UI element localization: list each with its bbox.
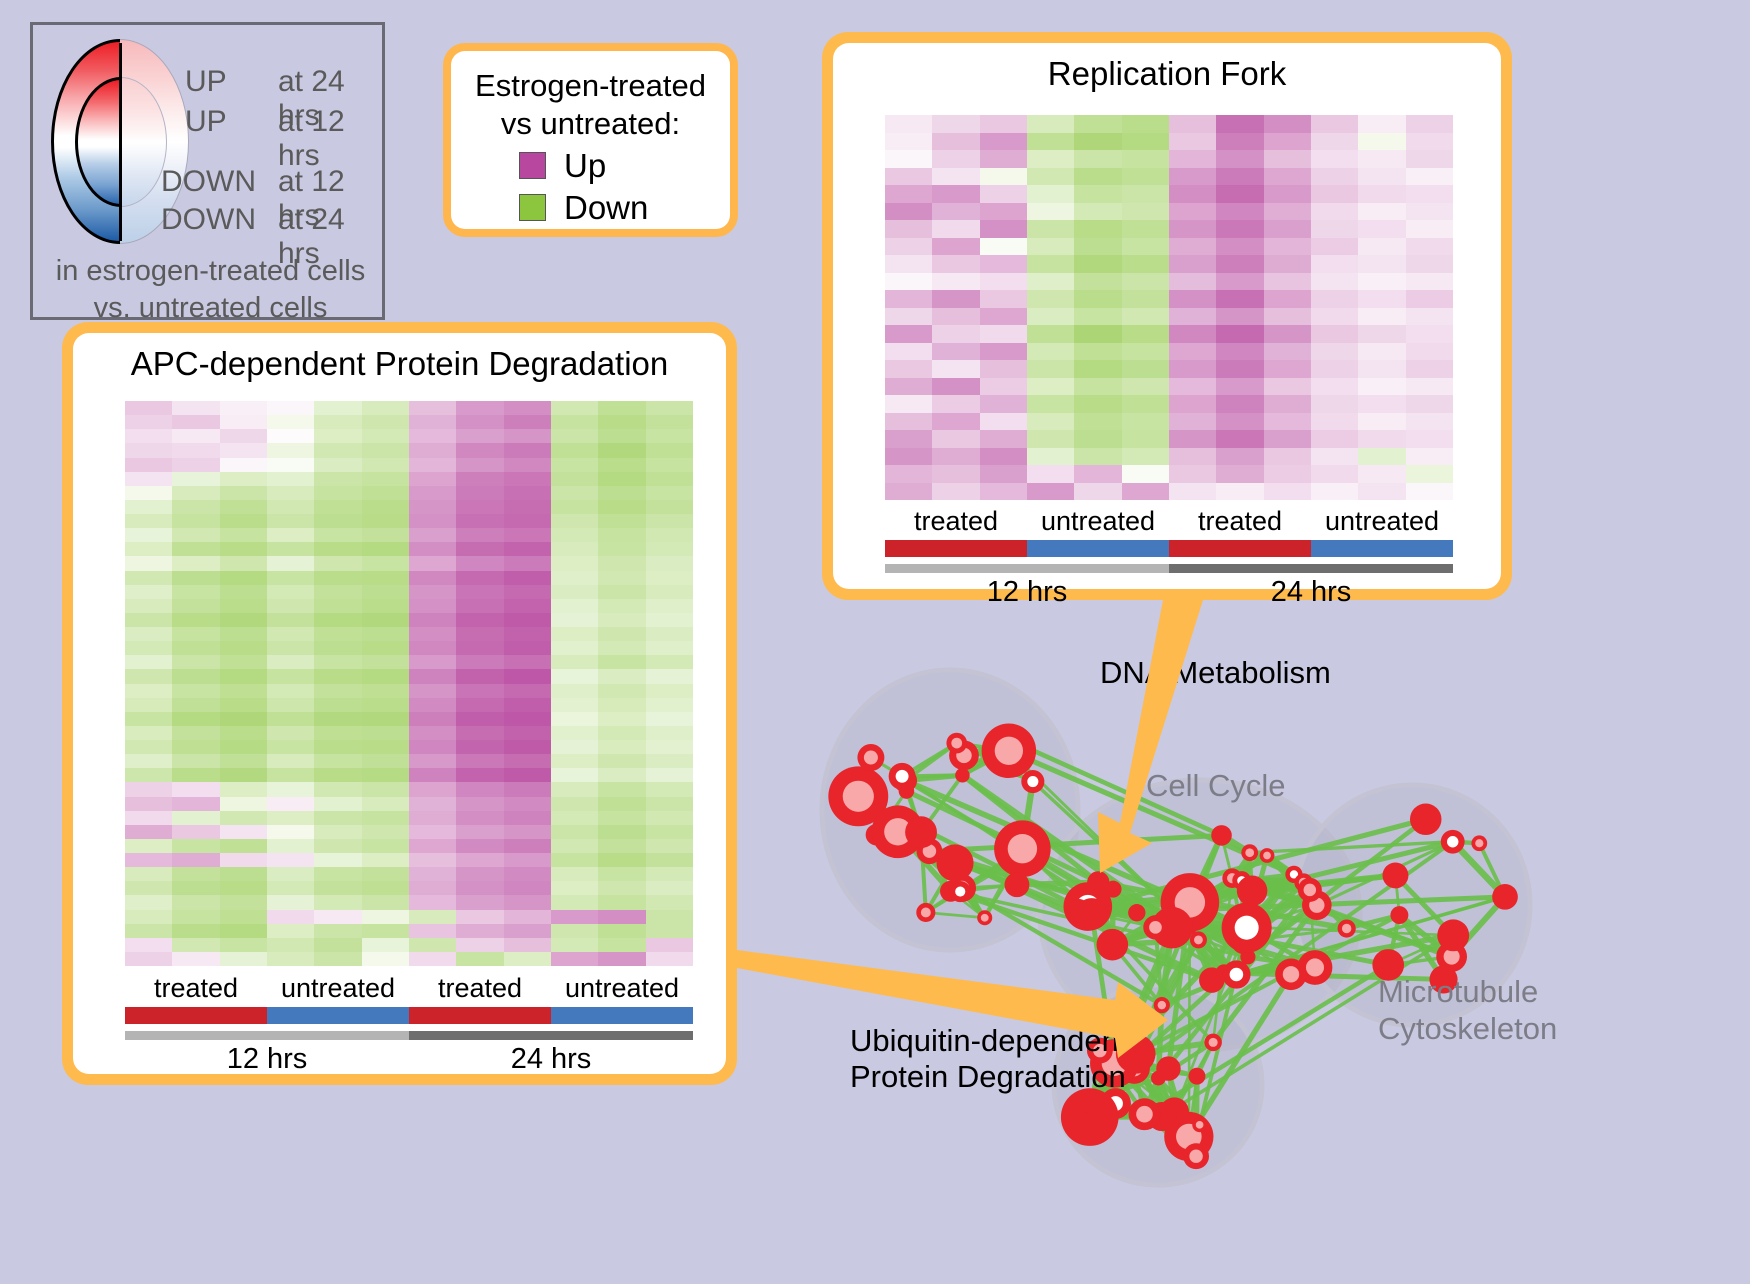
heatmap-cell bbox=[125, 782, 172, 796]
heatmap-cell bbox=[646, 910, 693, 924]
heatmap-cell bbox=[1169, 238, 1216, 256]
heatmap-cell bbox=[1074, 465, 1121, 483]
heatmap-cell bbox=[646, 952, 693, 966]
heatmap-cell bbox=[551, 867, 598, 881]
heatmap-cell bbox=[456, 542, 503, 556]
heatmap-cell bbox=[267, 627, 314, 641]
heatmap-column bbox=[551, 401, 598, 966]
heatmap-cell bbox=[1311, 273, 1358, 291]
heatmap-cell bbox=[220, 797, 267, 811]
heatmap-cell bbox=[932, 290, 979, 308]
legend-direction-3: DOWN bbox=[161, 203, 256, 237]
network-node[interactable] bbox=[1128, 904, 1145, 921]
heatmap-cell bbox=[409, 684, 456, 698]
heatmap-cell bbox=[1406, 360, 1453, 378]
heatmap-cell bbox=[1406, 133, 1453, 151]
heatmap-cell bbox=[504, 910, 551, 924]
heatmap-cell bbox=[551, 542, 598, 556]
heatmap-cell bbox=[409, 415, 456, 429]
heatmap-cell bbox=[125, 641, 172, 655]
heatmap-cell bbox=[551, 443, 598, 457]
network-node[interactable] bbox=[1129, 1098, 1161, 1130]
heatmap-column bbox=[267, 401, 314, 966]
heatmap-cell bbox=[504, 669, 551, 683]
network-node[interactable] bbox=[905, 816, 937, 848]
heatmap-cell bbox=[125, 514, 172, 528]
heatmap-cell bbox=[362, 881, 409, 895]
heatmap-cell bbox=[1216, 150, 1263, 168]
heatmap-cell bbox=[220, 613, 267, 627]
network-node[interactable] bbox=[1067, 899, 1091, 923]
network-node[interactable] bbox=[1492, 884, 1518, 910]
axis-treatment-bars bbox=[125, 1007, 693, 1024]
heatmap-cell bbox=[172, 853, 219, 867]
heatmap-cell bbox=[314, 867, 361, 881]
heatmap-cell bbox=[314, 698, 361, 712]
heatmap-cell bbox=[1122, 115, 1169, 133]
heatmap-cell bbox=[504, 401, 551, 415]
heatmap-cell bbox=[1027, 168, 1074, 186]
legend-time-1: at 12 hrs bbox=[278, 105, 382, 173]
axis-treatment-bar bbox=[1311, 540, 1453, 557]
network-node[interactable] bbox=[1237, 876, 1268, 907]
heatmap-cell bbox=[598, 782, 645, 796]
axis-time-label: 24 hrs bbox=[409, 1043, 693, 1076]
heatmap-cell bbox=[1027, 325, 1074, 343]
heatmap-cell bbox=[409, 782, 456, 796]
axis-treatment-bar bbox=[125, 1007, 267, 1024]
cluster-label-dna-metabolism: DNA Metabolism bbox=[1100, 655, 1331, 691]
network-node[interactable] bbox=[1143, 915, 1167, 939]
heatmap-cell bbox=[646, 486, 693, 500]
heatmap-cell bbox=[456, 684, 503, 698]
axis-group-label: treated bbox=[409, 973, 551, 1004]
heatmap-cell bbox=[1169, 465, 1216, 483]
heatmap-cell bbox=[220, 952, 267, 966]
heatmap-cell bbox=[409, 938, 456, 952]
heatmap-cell bbox=[1216, 115, 1263, 133]
heatmap-cell bbox=[504, 839, 551, 853]
heatmap-cell bbox=[1169, 430, 1216, 448]
heatmap-cell bbox=[1216, 255, 1263, 273]
heatmap-cell bbox=[1264, 273, 1311, 291]
heatmap-apc bbox=[125, 401, 693, 966]
heatmap-cell bbox=[125, 684, 172, 698]
network-node[interactable] bbox=[994, 820, 1051, 877]
heatmap-cell bbox=[267, 443, 314, 457]
heatmap-cell bbox=[456, 881, 503, 895]
heatmap-cell bbox=[409, 401, 456, 415]
axis-time-label: 12 hrs bbox=[125, 1043, 409, 1076]
heatmap-cell bbox=[646, 740, 693, 754]
heatmap-cell bbox=[314, 938, 361, 952]
heatmap-cell bbox=[362, 669, 409, 683]
heatmap-cell bbox=[646, 853, 693, 867]
heatmap-cell bbox=[1311, 203, 1358, 221]
heatmap-cell bbox=[885, 273, 932, 291]
heatmap-cell bbox=[267, 726, 314, 740]
axis-treatment-bar bbox=[551, 1007, 693, 1024]
heatmap-cell bbox=[314, 825, 361, 839]
heatmap-cell bbox=[932, 483, 979, 501]
network-node[interactable] bbox=[1437, 919, 1469, 951]
heatmap-cell bbox=[267, 910, 314, 924]
heatmap-cell bbox=[504, 486, 551, 500]
heatmap-cell bbox=[1406, 273, 1453, 291]
heatmap-cell bbox=[1358, 465, 1405, 483]
heatmap-cell bbox=[409, 839, 456, 853]
heatmap-cell bbox=[598, 839, 645, 853]
heatmap-cell bbox=[409, 472, 456, 486]
network-node[interactable] bbox=[1382, 862, 1408, 888]
heatmap-cell bbox=[362, 415, 409, 429]
heatmap-cell bbox=[1169, 343, 1216, 361]
heatmap-cell bbox=[314, 754, 361, 768]
heatmap-cell bbox=[1311, 378, 1358, 396]
network-node[interactable] bbox=[1338, 919, 1356, 937]
heatmap-cell bbox=[980, 273, 1027, 291]
axis-time-label: 24 hrs bbox=[1169, 576, 1453, 609]
heatmap-cell bbox=[1027, 220, 1074, 238]
heatmap-cell bbox=[598, 938, 645, 952]
heatmap-cell bbox=[314, 599, 361, 613]
heatmap-cell bbox=[646, 571, 693, 585]
heatmap-cell bbox=[1074, 395, 1121, 413]
heatmap-column bbox=[598, 401, 645, 966]
heatmap-cell bbox=[504, 429, 551, 443]
heatmap-cell bbox=[456, 443, 503, 457]
heatmap-cell bbox=[220, 585, 267, 599]
heatmap-cell bbox=[1264, 168, 1311, 186]
heatmap-cell bbox=[409, 669, 456, 683]
heatmap-cell bbox=[314, 514, 361, 528]
heatmap-cell bbox=[885, 343, 932, 361]
up-label: Up bbox=[564, 147, 606, 185]
network-node[interactable] bbox=[1199, 967, 1224, 992]
heatmap-cell bbox=[980, 465, 1027, 483]
heatmap-cell bbox=[125, 768, 172, 782]
heatmap-cell bbox=[646, 458, 693, 472]
heatmap-cell bbox=[504, 895, 551, 909]
heatmap-cell bbox=[551, 585, 598, 599]
axis-time-bar bbox=[409, 1031, 693, 1040]
heatmap-cell bbox=[1358, 220, 1405, 238]
heatmap-cell bbox=[172, 627, 219, 641]
heatmap-cell bbox=[125, 415, 172, 429]
heatmap-cell bbox=[598, 740, 645, 754]
heatmap-cell bbox=[1358, 255, 1405, 273]
heatmap-cell bbox=[598, 585, 645, 599]
heatmap-cell bbox=[646, 754, 693, 768]
heatmap-cell bbox=[314, 910, 361, 924]
network-node[interactable] bbox=[946, 733, 967, 754]
heatmap-cell bbox=[1264, 430, 1311, 448]
heatmap-cell bbox=[125, 938, 172, 952]
heatmap-cell bbox=[456, 458, 503, 472]
network-node[interactable] bbox=[1188, 1068, 1205, 1085]
heatmap-cell bbox=[646, 881, 693, 895]
heatmap-cell bbox=[1122, 308, 1169, 326]
network-node[interactable] bbox=[1183, 1143, 1209, 1169]
heatmap-cell bbox=[598, 641, 645, 655]
heatmap-cell bbox=[1358, 308, 1405, 326]
heatmap-cell bbox=[362, 556, 409, 570]
heatmap-cell bbox=[314, 486, 361, 500]
heatmap-cell bbox=[646, 443, 693, 457]
heatmap-cell bbox=[598, 924, 645, 938]
heatmap-cell bbox=[1169, 448, 1216, 466]
heatmap-cell bbox=[646, 669, 693, 683]
heatmap-cell bbox=[456, 429, 503, 443]
heatmap-cell bbox=[362, 952, 409, 966]
heatmap-cell bbox=[172, 726, 219, 740]
heatmap-cell bbox=[362, 458, 409, 472]
network-node[interactable] bbox=[1410, 803, 1442, 835]
heatmap-cell bbox=[409, 429, 456, 443]
heatmap-cell bbox=[504, 811, 551, 825]
heatmap-cell bbox=[314, 768, 361, 782]
heatmap-cell bbox=[980, 290, 1027, 308]
heatmap-cell bbox=[1074, 220, 1121, 238]
heatmap-cell bbox=[551, 500, 598, 514]
heatmap-cell bbox=[1122, 185, 1169, 203]
heatmap-cell bbox=[456, 571, 503, 585]
heatmap-cell bbox=[220, 726, 267, 740]
heatmap-cell bbox=[409, 881, 456, 895]
heatmap-cell bbox=[980, 220, 1027, 238]
heatmap-cell bbox=[598, 514, 645, 528]
network-node[interactable] bbox=[982, 724, 1036, 778]
heatmap-cell bbox=[172, 698, 219, 712]
axis-treatment-bars bbox=[885, 540, 1453, 557]
heatmap-cell bbox=[456, 599, 503, 613]
heatmap-cell bbox=[362, 627, 409, 641]
heatmap-cell bbox=[1311, 483, 1358, 501]
heatmap-cell bbox=[598, 571, 645, 585]
heatmap-cell bbox=[172, 415, 219, 429]
heatmap-column bbox=[646, 401, 693, 966]
heatmap-cell bbox=[409, 867, 456, 881]
heatmap-cell bbox=[172, 895, 219, 909]
heatmap-cell bbox=[172, 797, 219, 811]
heatmap-cell bbox=[172, 938, 219, 952]
network-node[interactable] bbox=[857, 744, 884, 771]
heatmap-cell bbox=[125, 556, 172, 570]
network-node[interactable] bbox=[1021, 770, 1044, 793]
network-node[interactable] bbox=[977, 910, 992, 925]
heatmap-cell bbox=[1311, 343, 1358, 361]
heatmap-cell bbox=[456, 627, 503, 641]
heatmap-cell bbox=[646, 429, 693, 443]
network-node[interactable] bbox=[1298, 878, 1322, 902]
heatmap-cell bbox=[646, 895, 693, 909]
heatmap-cell bbox=[456, 500, 503, 514]
heatmap-cell bbox=[1406, 343, 1453, 361]
network-node[interactable] bbox=[1390, 906, 1408, 924]
heatmap-cell bbox=[267, 599, 314, 613]
heatmap-cell bbox=[220, 782, 267, 796]
heatmap-cell bbox=[1264, 413, 1311, 431]
heatmap-cell bbox=[456, 910, 503, 924]
heatmap-cell bbox=[885, 203, 932, 221]
heatmap-cell bbox=[125, 429, 172, 443]
heatmap-cell bbox=[1311, 308, 1358, 326]
heatmap-cell bbox=[1027, 203, 1074, 221]
heatmap-cell bbox=[551, 655, 598, 669]
heatmap-cell bbox=[1122, 430, 1169, 448]
heatmap-cell bbox=[362, 754, 409, 768]
heatmap-cell bbox=[1027, 238, 1074, 256]
network-node[interactable] bbox=[1241, 844, 1258, 861]
heatmap-cell bbox=[1027, 115, 1074, 133]
heatmap-cell bbox=[314, 443, 361, 457]
heatmap-cell bbox=[172, 571, 219, 585]
heatmap-cell bbox=[598, 627, 645, 641]
network-node[interactable] bbox=[1222, 960, 1250, 988]
heatmap-cell bbox=[267, 472, 314, 486]
heatmap-cell bbox=[220, 839, 267, 853]
heatmap-cell bbox=[125, 443, 172, 457]
heatmap-cell bbox=[125, 585, 172, 599]
heatmap-cell bbox=[980, 413, 1027, 431]
heatmap-cell bbox=[1169, 273, 1216, 291]
heatmap-cell bbox=[1027, 483, 1074, 501]
network-node[interactable] bbox=[1190, 931, 1207, 948]
heatmap-cell bbox=[551, 458, 598, 472]
heatmap-cell bbox=[267, 782, 314, 796]
heatmap-cell bbox=[1216, 360, 1263, 378]
network-node[interactable] bbox=[1156, 1056, 1180, 1080]
heatmap-cell bbox=[456, 797, 503, 811]
heatmap-column bbox=[1358, 115, 1405, 500]
heatmap-cell bbox=[1311, 290, 1358, 308]
heatmap-cell bbox=[267, 952, 314, 966]
heatmap-cell bbox=[409, 528, 456, 542]
heatmap-cell bbox=[1358, 273, 1405, 291]
heatmap-cell bbox=[314, 585, 361, 599]
network-node[interactable] bbox=[1441, 830, 1465, 854]
heatmap-cell bbox=[1122, 290, 1169, 308]
heatmap-cell bbox=[598, 952, 645, 966]
heatmap-cell bbox=[314, 429, 361, 443]
heatmap-cell bbox=[1311, 413, 1358, 431]
network-node[interactable] bbox=[1471, 835, 1487, 851]
heatmap-cell bbox=[125, 952, 172, 966]
network-node[interactable] bbox=[1260, 848, 1275, 863]
heatmap-cell bbox=[409, 571, 456, 585]
heatmap-cell bbox=[220, 910, 267, 924]
heatmap-cell bbox=[409, 825, 456, 839]
network-node[interactable] bbox=[1222, 903, 1272, 953]
heatmap-cell bbox=[220, 458, 267, 472]
heatmap-cell bbox=[172, 472, 219, 486]
network-node[interactable] bbox=[950, 881, 971, 902]
heatmap-cell bbox=[1074, 483, 1121, 501]
heatmap-cell bbox=[1027, 273, 1074, 291]
heatmap-cell bbox=[932, 430, 979, 448]
heatmap-cell bbox=[409, 500, 456, 514]
heatmap-cell bbox=[1358, 483, 1405, 501]
network-node[interactable] bbox=[899, 783, 915, 799]
network-node[interactable] bbox=[1192, 1118, 1207, 1133]
heatmap-cell bbox=[1406, 238, 1453, 256]
network-node[interactable] bbox=[1005, 872, 1030, 897]
heatmap-cell bbox=[314, 641, 361, 655]
heatmap-cell bbox=[504, 867, 551, 881]
heatmap-cell bbox=[314, 740, 361, 754]
heatmap-cell bbox=[1074, 185, 1121, 203]
heatmap-cell bbox=[125, 571, 172, 585]
heatmap-cell bbox=[1169, 413, 1216, 431]
heatmap-cell bbox=[1358, 430, 1405, 448]
heatmap-cell bbox=[125, 797, 172, 811]
network-node[interactable] bbox=[1204, 1034, 1221, 1051]
heatmap-cell bbox=[885, 290, 932, 308]
heatmap-cell bbox=[504, 542, 551, 556]
heatmap-cell bbox=[551, 938, 598, 952]
heatmap-cell bbox=[220, 514, 267, 528]
heatmap-cell bbox=[932, 255, 979, 273]
heatmap-cell bbox=[598, 613, 645, 627]
network-node[interactable] bbox=[1211, 825, 1232, 846]
heatmap-cell bbox=[1358, 343, 1405, 361]
heatmap-cell bbox=[125, 613, 172, 627]
heatmap-cell bbox=[362, 895, 409, 909]
heatmap-cell bbox=[551, 768, 598, 782]
heatmap-cell bbox=[504, 514, 551, 528]
heatmap-cell bbox=[1122, 133, 1169, 151]
heatmap-cell bbox=[409, 726, 456, 740]
heatmap-column bbox=[1074, 115, 1121, 500]
axis-replication-fork: treateduntreatedtreateduntreated 12 hrs2… bbox=[885, 506, 1453, 609]
heatmap-cell bbox=[1406, 325, 1453, 343]
heatmap-cell bbox=[1122, 220, 1169, 238]
heatmap-cell bbox=[504, 684, 551, 698]
ubiquitin-line2: Protein Degradation bbox=[850, 1059, 1128, 1095]
heatmap-cell bbox=[125, 627, 172, 641]
heatmap-cell bbox=[1122, 483, 1169, 501]
heatmap-replication-fork bbox=[885, 115, 1453, 500]
heatmap-cell bbox=[551, 726, 598, 740]
legend-direction-0: UP bbox=[185, 65, 227, 99]
heatmap-cell bbox=[980, 448, 1027, 466]
heatmap-cell bbox=[456, 712, 503, 726]
heatmap-column bbox=[1311, 115, 1358, 500]
axis-time-bar bbox=[1169, 564, 1453, 573]
heatmap-cell bbox=[456, 613, 503, 627]
heatmap-cell bbox=[172, 613, 219, 627]
heatmap-cell bbox=[1169, 378, 1216, 396]
heatmap-cell bbox=[409, 641, 456, 655]
network-node[interactable] bbox=[1154, 997, 1170, 1013]
heatmap-cell bbox=[646, 542, 693, 556]
network-node[interactable] bbox=[916, 903, 935, 922]
heatmap-cell bbox=[980, 360, 1027, 378]
heatmap-cell bbox=[172, 401, 219, 415]
heatmap-cell bbox=[598, 669, 645, 683]
heatmap-cell bbox=[409, 712, 456, 726]
network-node[interactable] bbox=[1275, 958, 1307, 990]
heatmap-cell bbox=[1216, 290, 1263, 308]
heatmap-cell bbox=[504, 853, 551, 867]
heatmap-cell bbox=[267, 571, 314, 585]
heatmap-cell bbox=[598, 599, 645, 613]
network-node[interactable] bbox=[1097, 929, 1129, 961]
heatmap-cell bbox=[456, 895, 503, 909]
heatmap-cell bbox=[504, 952, 551, 966]
heatmap-cell bbox=[1074, 273, 1121, 291]
heatmap-cell bbox=[1074, 133, 1121, 151]
